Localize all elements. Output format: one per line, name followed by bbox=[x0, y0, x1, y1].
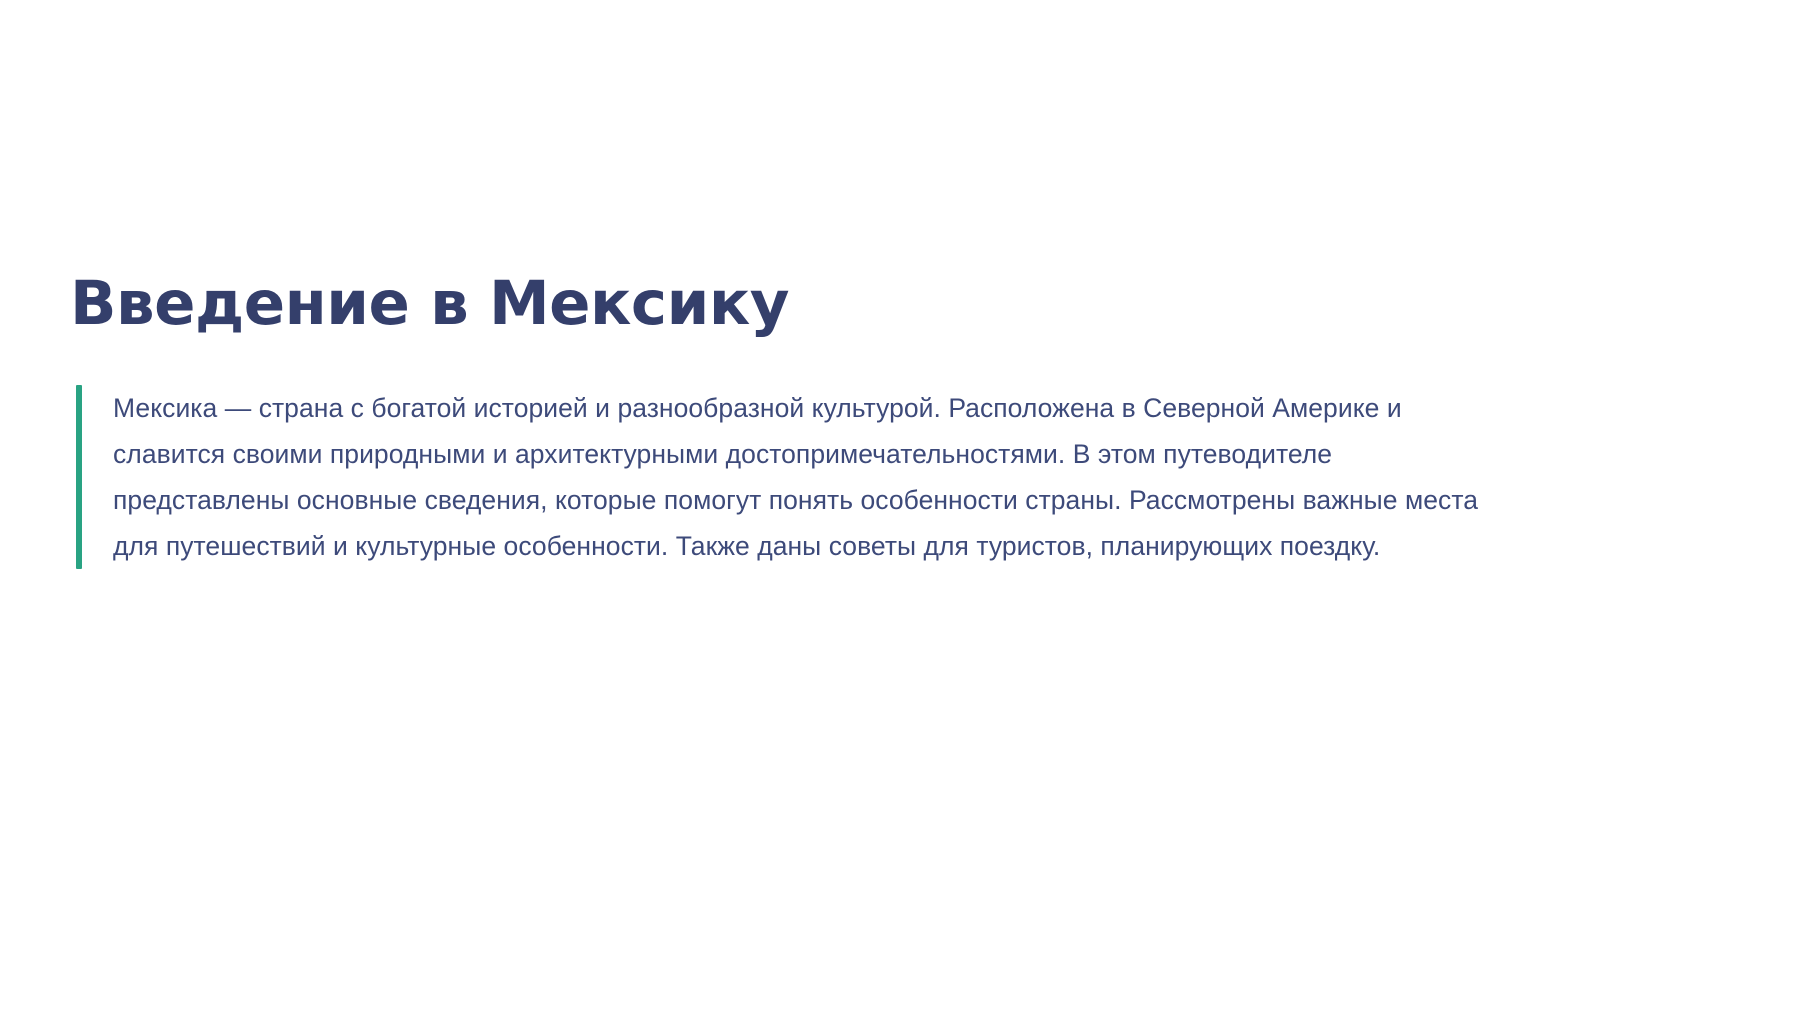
page-title: Введение в Мексику bbox=[70, 270, 1490, 338]
intro-paragraph: Мексика — страна с богатой историей и ра… bbox=[113, 385, 1485, 569]
content-block: Введение в Мексику Мексика — страна с бо… bbox=[70, 270, 1490, 569]
slide-root: Введение в Мексику Мексика — страна с бо… bbox=[0, 0, 1800, 1013]
accent-bar bbox=[76, 385, 82, 569]
intro-callout: Мексика — страна с богатой историей и ра… bbox=[70, 385, 1490, 569]
